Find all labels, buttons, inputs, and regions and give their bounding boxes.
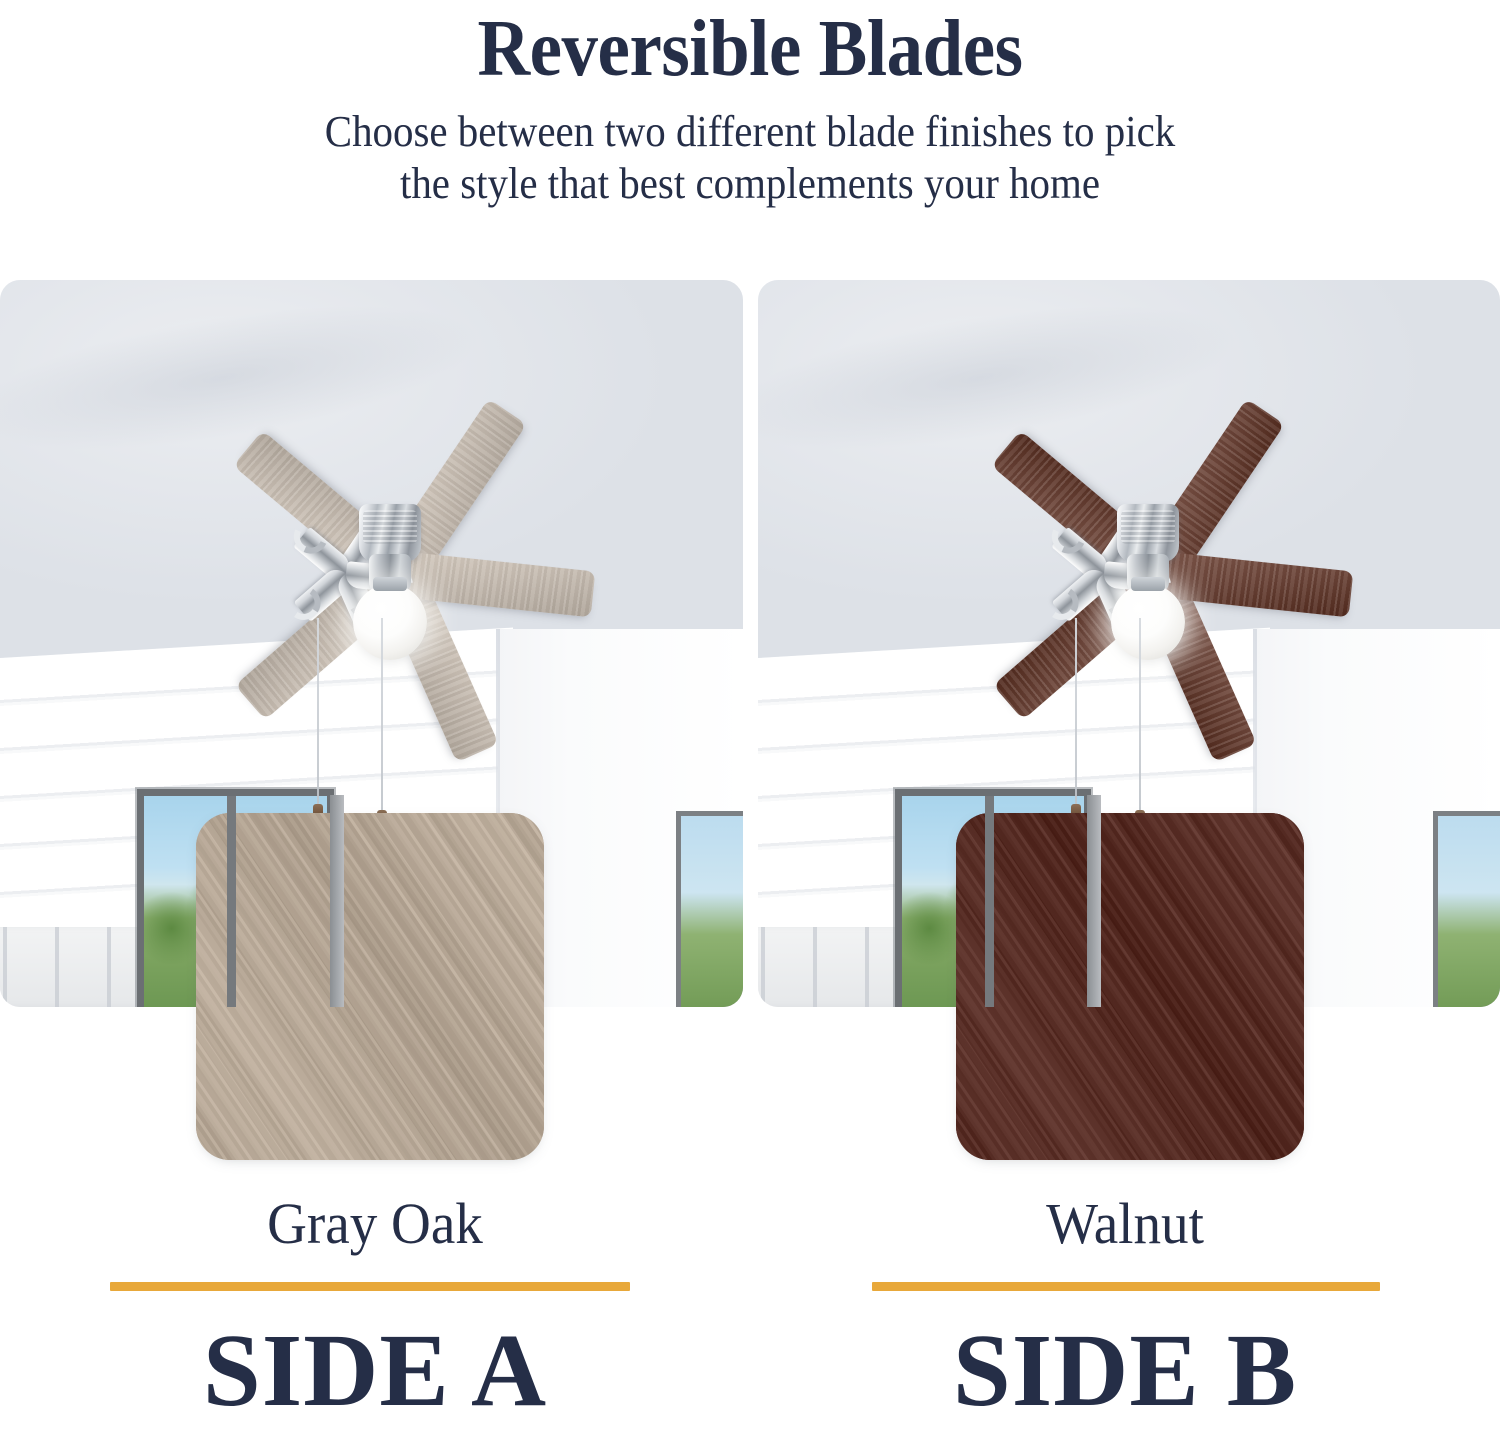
- subtitle-line-2: the style that best complements your hom…: [53, 158, 1448, 209]
- window-mullion-b: [985, 796, 994, 1007]
- side-label-b: SIDE B: [750, 1319, 1500, 1423]
- subtitle-line-1: Choose between two different blade finis…: [53, 90, 1448, 157]
- pull-chain: [317, 618, 319, 808]
- page-title: Reversible Blades: [75, 0, 1425, 90]
- caption-side-b: Walnut SIDE B: [750, 1192, 1500, 1423]
- finish-name-side-b: Walnut: [769, 1192, 1482, 1256]
- secondary-window-glass-a: [681, 816, 743, 1007]
- secondary-window-b: [1433, 811, 1500, 1007]
- secondary-window-glass-b: [1438, 816, 1500, 1007]
- fan-motor-housing-a: [343, 522, 437, 614]
- header: Reversible Blades Choose between two dif…: [0, 0, 1500, 209]
- wood-grain-texture-a: [196, 813, 544, 1160]
- pull-chain: [1075, 618, 1077, 808]
- side-label-a: SIDE A: [0, 1319, 750, 1423]
- pull-chain: [381, 618, 383, 814]
- finish-swatch-gray-oak: [196, 813, 544, 1160]
- fan-motor-housing-b: [1101, 522, 1195, 614]
- window-mullion-a: [227, 796, 236, 1007]
- finish-name-side-a: Gray Oak: [19, 1192, 732, 1256]
- pull-chain: [1139, 618, 1141, 814]
- light-globe-a: [353, 584, 427, 660]
- finish-swatch-walnut: [956, 813, 1304, 1160]
- caption-side-a: Gray Oak SIDE A: [0, 1192, 750, 1423]
- window-jamb-a: [330, 795, 344, 1007]
- secondary-window-a: [676, 811, 743, 1007]
- light-globe-b: [1111, 584, 1185, 660]
- gold-divider-b: [872, 1282, 1380, 1291]
- gold-divider-a: [110, 1282, 630, 1291]
- wood-grain-texture-b: [956, 813, 1304, 1160]
- window-jamb-b: [1087, 795, 1101, 1007]
